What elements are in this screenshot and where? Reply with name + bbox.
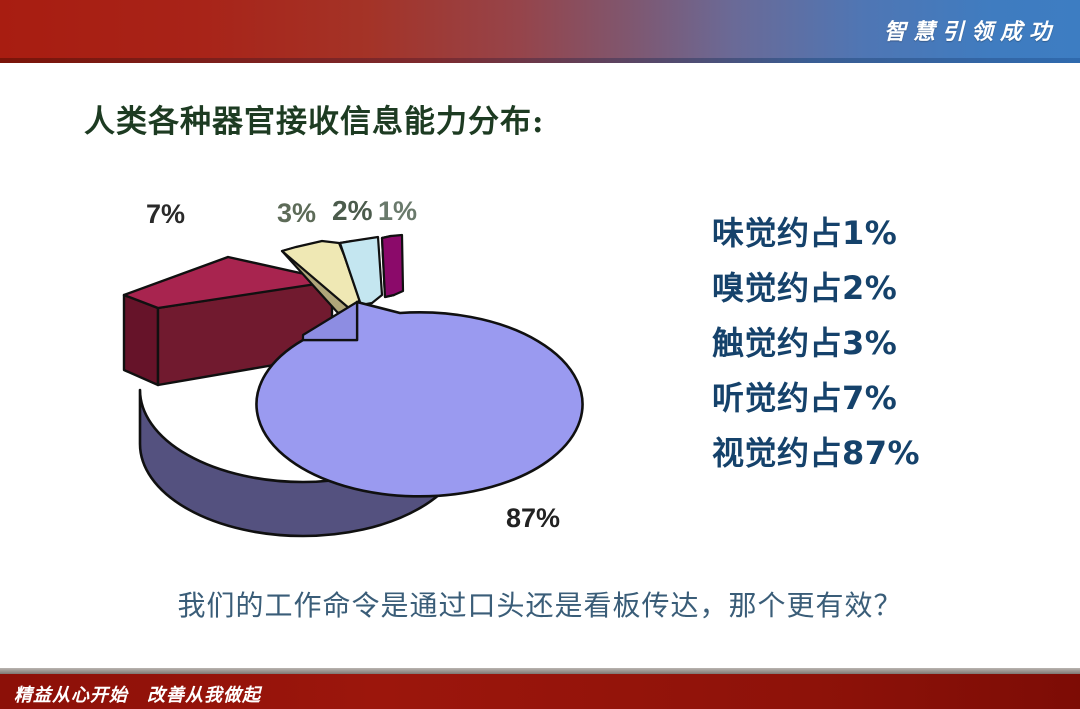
legend-item-smell: 嗅觉约占2% (712, 261, 1042, 316)
pie-label-3: 3% (277, 198, 316, 229)
pie-label-7: 7% (146, 199, 185, 230)
page-title: 人类各种器官接收信息能力分布: (84, 96, 544, 141)
pie-label-2: 2% (332, 195, 372, 227)
pie-label-1: 1% (378, 196, 417, 227)
legend-item-touch: 触觉约占3% (712, 316, 1042, 371)
header-slogan: 智慧引领成功 (884, 14, 1058, 46)
legend-item-vision: 视觉约占87% (712, 426, 1042, 481)
legend-item-taste: 味觉约占1% (712, 206, 1042, 261)
pie-label-87: 87% (506, 503, 560, 534)
header-underline (0, 58, 1080, 63)
slide-canvas: 智慧引领成功 人类各种器官接收信息能力分布: (0, 0, 1080, 709)
slide-caption: 我们的工作命令是通过口头还是看板传达，那个更有效？ (0, 584, 1080, 624)
legend-item-hearing: 听觉约占7% (712, 371, 1042, 426)
pie-chart-svg (110, 185, 690, 555)
pie-slice-taste (382, 235, 403, 297)
legend-list: 味觉约占1% 嗅觉约占2% 触觉约占3% 听觉约占7% 视觉约占87% (712, 206, 1042, 481)
pie-chart: 7% 3% 2% 1% 87% (110, 185, 690, 555)
footer-slogan: 精益从心开始 改善从我做起 (14, 681, 261, 707)
